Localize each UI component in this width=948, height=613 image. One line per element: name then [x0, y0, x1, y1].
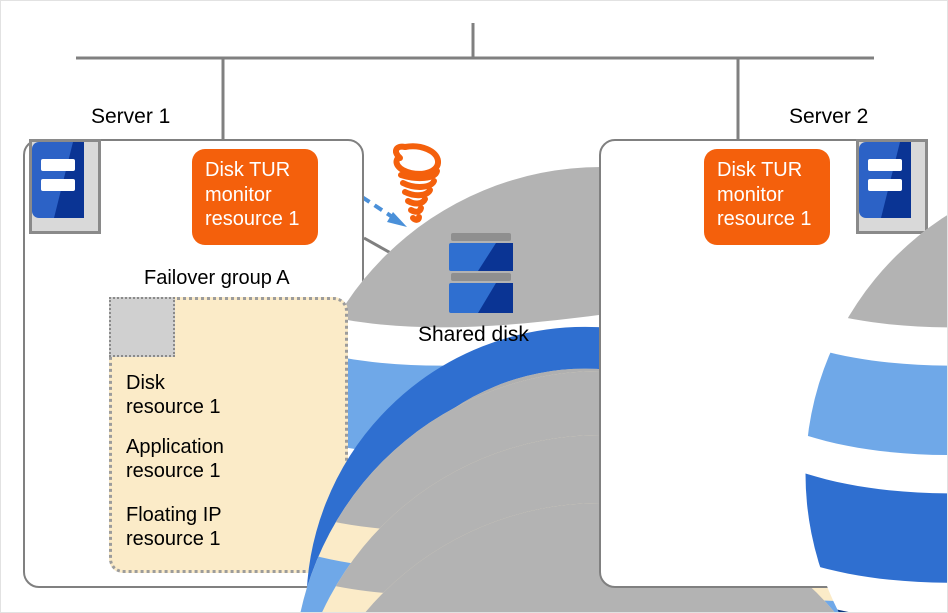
disk-tur-monitor-resource-box-1[interactable]: Disk TUR monitor resource 1	[192, 149, 318, 245]
monitor-line-1: Disk TUR	[717, 158, 830, 183]
monitor-line-1: Disk TUR	[205, 158, 318, 183]
failover-group-title: Failover group A	[144, 267, 290, 290]
failover-group-icon	[109, 297, 175, 357]
disk-tur-monitor-resource-box-2[interactable]: Disk TUR monitor resource 1	[704, 149, 830, 245]
shared-disk-label: Shared disk	[418, 323, 529, 347]
shared-disk-icon	[448, 233, 514, 317]
server-1-label: Server 1	[91, 105, 170, 129]
monitor-line-3: resource 1	[717, 207, 830, 232]
server-icon	[29, 139, 101, 234]
resource-row[interactable]: Floating IP resource 1	[126, 503, 222, 552]
diagram-canvas: Server 1 Disk TUR monitor resource 1 Fai…	[0, 0, 948, 613]
resource-row[interactable]: Disk resource 1	[126, 371, 221, 420]
monitor-line-3: resource 1	[205, 207, 318, 232]
monitor-line-2: monitor	[717, 183, 830, 208]
resource-row[interactable]: Application resource 1	[126, 435, 224, 484]
server-2-label: Server 2	[789, 105, 868, 129]
server-glyph-icon	[32, 142, 84, 218]
monitor-line-2: monitor	[205, 183, 318, 208]
network-bus	[76, 23, 874, 141]
